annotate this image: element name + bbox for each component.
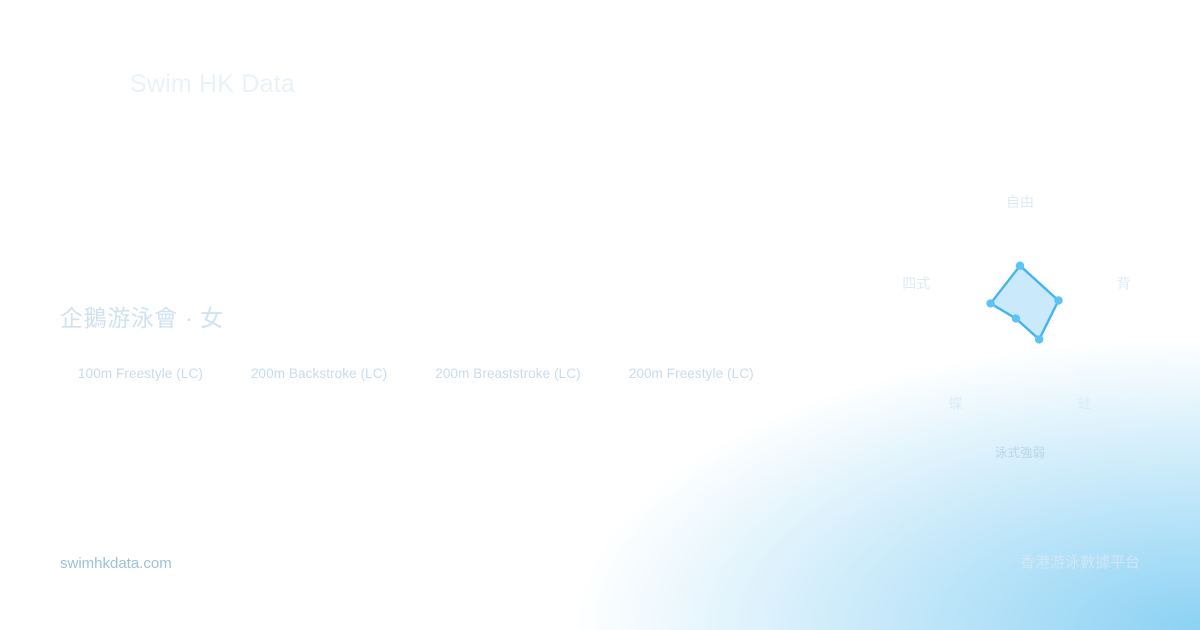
radar-axis-label: 四式 <box>902 276 930 292</box>
radar-axis-label: 自由 <box>1006 195 1034 211</box>
footer-tagline: 香港游泳數據平台 <box>1020 551 1140 572</box>
hero-block: Ng, Ka Ying 企鵝游泳會 · 女 <box>60 222 361 333</box>
radar-axis-label: 蛙 <box>1078 397 1092 413</box>
radar-data-point <box>1016 262 1024 270</box>
radar-data-point <box>986 299 994 307</box>
radar-axis-label: 背 <box>1117 276 1131 292</box>
radar-data-polygon <box>991 266 1059 340</box>
stat-card: 100m Freestyle (LC) 1:13.92 <box>60 352 221 436</box>
stroke-strength-radar-chart: 自由背蛙蝶四式 泳式強弱 <box>865 165 1175 475</box>
radar-data-point <box>1012 314 1020 322</box>
radar-series-polygon <box>991 266 1059 340</box>
stat-card-value: 3:31.11 <box>251 388 387 420</box>
stat-card-label: 200m Backstroke (LC) <box>251 366 387 381</box>
brand-header: Swim HK Data <box>60 58 295 110</box>
radar-axis-label: 蝶 <box>948 397 962 413</box>
radar-caption: 泳式強弱 <box>995 445 1045 460</box>
share-card-stage: Swim HK Data Ng, Ka Ying 企鵝游泳會 · 女 100m … <box>0 0 1200 630</box>
stat-card: 200m Breaststroke (LC) 3:32.49 <box>417 352 599 436</box>
stat-card-value: 1:13.92 <box>78 388 203 420</box>
radar-data-point <box>1054 296 1062 304</box>
stat-card-label: 200m Breaststroke (LC) <box>435 366 581 381</box>
stat-card-label: 200m Freestyle (LC) <box>629 366 754 381</box>
athlete-meta: 企鵝游泳會 · 女 <box>60 299 361 333</box>
radar-data-point <box>1035 335 1043 343</box>
stat-card: 200m Backstroke (LC) 3:31.11 <box>233 352 405 436</box>
radar-spoke <box>969 313 1020 383</box>
footer-site-url: swimhkdata.com <box>60 555 172 572</box>
stat-card-value: 2:45.10 <box>629 388 754 420</box>
double-wave-icon <box>60 58 112 110</box>
page-title: Ng, Ka Ying <box>60 222 361 285</box>
stat-card-list: 100m Freestyle (LC) 1:13.92 200m Backstr… <box>60 352 772 436</box>
stat-card-value: 3:32.49 <box>435 388 581 420</box>
stat-card-label: 100m Freestyle (LC) <box>78 366 203 381</box>
stat-card: 200m Freestyle (LC) 2:45.10 <box>611 352 772 436</box>
brand-name: Swim HK Data <box>130 70 295 99</box>
